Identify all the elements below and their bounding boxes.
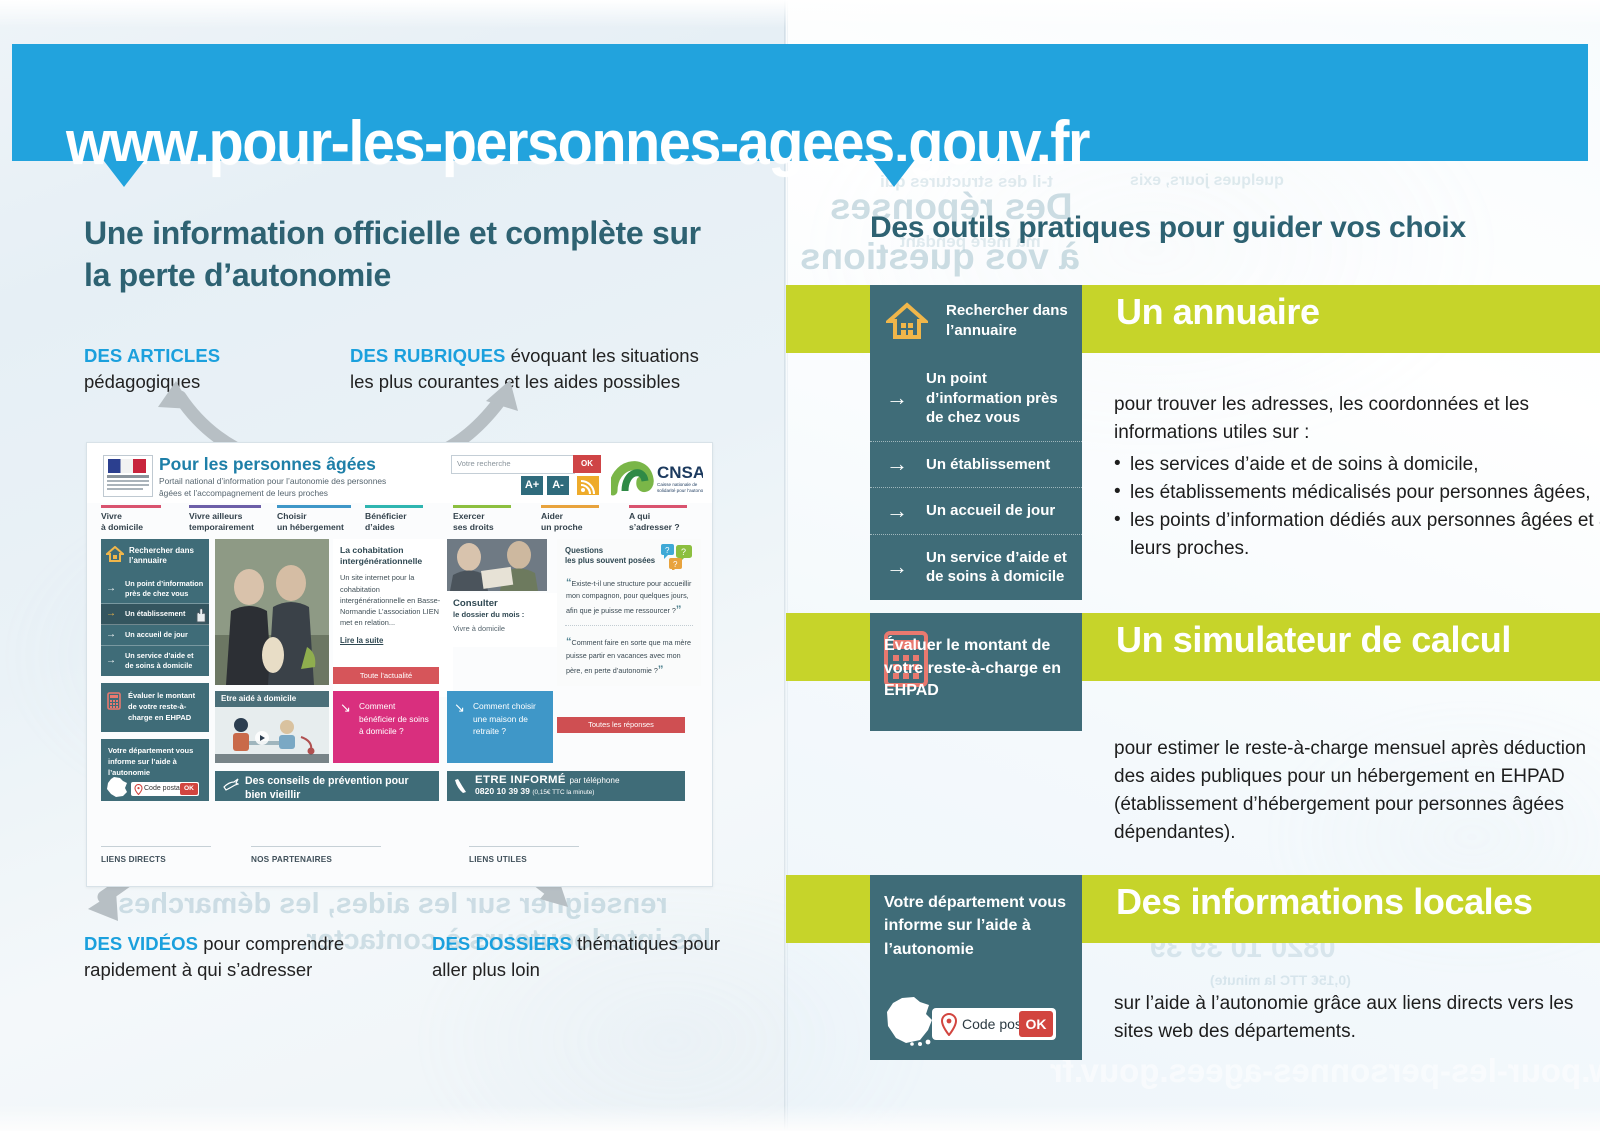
mockup-video-caption: Etre aidé à domicile: [215, 691, 329, 707]
mockup-postal-ok-button[interactable]: OK: [180, 783, 198, 795]
nav-item-vivre-domicile[interactable]: Vivre à domicile: [101, 511, 143, 534]
band-annuaire-title: Un annuaire: [1116, 291, 1320, 333]
mockup-article-readmore-link[interactable]: Lire la suite: [340, 636, 446, 645]
france-map-icon: [884, 996, 936, 1046]
band-simulateur-title: Un simulateur de calcul: [1116, 619, 1511, 661]
callout-rubriques: DES RUBRIQUES évoquant les situations le…: [350, 343, 720, 396]
mockup-informed-title: ETRE INFORMÉ: [475, 774, 566, 786]
mockup-tile-maison-retraite[interactable]: ↘ Comment choisir une maison de retraite…: [447, 691, 553, 763]
mockup-annuaire-header: Rechercher dans l’annuaire: [101, 539, 209, 574]
annuaire-bullet-1: les établissements médicalisés pour pers…: [1114, 479, 1600, 507]
nav-item-choisir-hebergement[interactable]: Choisir un hébergement: [277, 511, 344, 534]
informations-locales-description: sur l’aide à l’autonomie grâce aux liens…: [1114, 990, 1600, 1046]
arrow-right-icon: →: [886, 387, 908, 409]
map-pin-icon: [134, 784, 143, 795]
nav-1-l1: Vivre ailleurs: [189, 511, 242, 521]
arrow-right-icon: →: [106, 609, 116, 619]
pointing-hand-icon: [223, 778, 239, 792]
mockup-sidebar-item-2-label: Un accueil de jour: [125, 630, 188, 639]
nav-2-l2: un hébergement: [277, 522, 344, 532]
widget-annuaire-header-label: Rechercher dans l’annuaire: [946, 302, 1068, 339]
mockup-header: Pour les personnes âgées Portail nationa…: [87, 443, 712, 503]
callout-dossiers-term: DES DOSSIERS: [432, 933, 572, 954]
play-icon: [255, 731, 269, 745]
arrow-right-icon: →: [886, 453, 908, 475]
mockup-body: Rechercher dans l’annuaire →Un point d’i…: [87, 539, 712, 839]
mockup-article-title: La cohabitation intergénérationnelle: [340, 545, 446, 567]
map-pin-icon: [940, 1013, 958, 1036]
widget-item-accueil-de-jour[interactable]: →Un accueil de jour: [870, 488, 1082, 535]
widget-annuaire-header[interactable]: Rechercher dans l’annuaire: [870, 285, 1082, 356]
mockup-postal-code-field[interactable]: Code postal OK: [131, 782, 199, 796]
mockup-sidebar-item-1-label: Un établissement: [125, 609, 185, 618]
mockup-informed-title-row: ETRE INFORMÉ par téléphone: [475, 774, 679, 786]
mockup-dept-card[interactable]: Votre département vous informe sur l’aid…: [101, 739, 209, 801]
rss-icon[interactable]: [577, 476, 599, 495]
nav-3-l1: Bénéficier: [365, 511, 407, 521]
mockup-sidebar-item-etablissement[interactable]: →Un établissement: [101, 604, 209, 625]
quote-close-icon: ”: [658, 664, 664, 676]
mockup-annuaire-header-label: Rechercher dans l’annuaire: [129, 546, 194, 565]
marianne-logo: [103, 455, 153, 497]
nav-0-l1: Vivre: [101, 511, 122, 521]
left-heading: Une information officielle et complète s…: [84, 213, 724, 296]
website-screenshot-mockup: Pour les personnes âgées Portail nationa…: [86, 442, 713, 887]
nav-0-l2: à domicile: [101, 522, 143, 532]
widget-informations-locales[interactable]: Votre département vous informe sur l’aid…: [870, 875, 1082, 1060]
simulateur-description: pour estimer le reste-à-charge mensuel a…: [1114, 735, 1600, 847]
nav-5-l1: Aider: [541, 511, 563, 521]
mockup-sidebar-item-0-label: Un point d’information près de chez vous: [125, 579, 203, 598]
arrow-down-right-icon: ↘: [454, 701, 465, 714]
mockup-search-placeholder: Votre recherche: [457, 459, 511, 468]
nav-item-aider-proche[interactable]: Aider un proche: [541, 511, 583, 534]
mockup-site-title: Pour les personnes âgées: [159, 454, 376, 475]
annuaire-bullet-0: les services d’aide et de soins à domici…: [1114, 451, 1600, 479]
mockup-faq-block: ? ? ? Questions les plus souvent posées …: [557, 539, 701, 686]
arrow-right-icon: →: [106, 584, 116, 594]
header-banner: www.pour-les-personnes-agees.gouv.fr: [12, 44, 1588, 161]
mockup-faq-question-1-text: Existe-t-il une structure pour accueilli…: [566, 579, 691, 615]
house-icon: [106, 546, 124, 562]
house-icon: [886, 302, 928, 340]
callout-articles-rest: pédagogiques: [84, 371, 200, 392]
mockup-dossier-subtitle: le dossier du mois :: [453, 610, 553, 619]
footer-liens-utiles[interactable]: LIENS UTILES: [469, 855, 527, 864]
mockup-tile-0-label: Comment bénéficier de soins à domicile ?: [359, 701, 429, 736]
mockup-sidebar-item-3-label: Un service d’aide et de soins à domicile: [125, 651, 194, 670]
widget-item-3-label: Un service d’aide et de soins à domicile: [926, 549, 1067, 586]
phone-icon: [455, 778, 469, 794]
mockup-video-player[interactable]: Etre aidé à domicile: [215, 691, 329, 763]
postal-code-ok-button[interactable]: OK: [1019, 1011, 1053, 1037]
arrow-right-icon: →: [106, 656, 116, 666]
callout-dossiers: DES DOSSIERS thématiques pour aller plus…: [432, 931, 732, 984]
callout-articles-term: DES ARTICLES: [84, 345, 220, 366]
left-panel: Une information officielle et complète s…: [0, 175, 786, 1131]
mockup-simulator-card[interactable]: Évaluer le montant de votre reste-à-char…: [101, 683, 209, 733]
scan-top-edge: [0, 0, 1600, 28]
widget-item-point-information[interactable]: →Un point d’information près de chez vou…: [870, 356, 1082, 442]
nav-4-l1: Exercer: [453, 511, 485, 521]
mockup-phone-number: 0820 10 39 39: [475, 786, 530, 796]
mockup-search-ok-button[interactable]: OK: [573, 455, 601, 473]
svg-text:?: ?: [681, 547, 686, 557]
postal-code-field[interactable]: Code postal OK: [932, 1008, 1056, 1040]
svg-text:Caisse nationale de: Caisse nationale de: [657, 482, 698, 487]
arrow-right-icon: →: [106, 630, 116, 640]
nav-item-exercer-droits[interactable]: Exercer ses droits: [453, 511, 494, 534]
nav-2-l1: Choisir: [277, 511, 307, 521]
france-map-icon: [105, 776, 129, 798]
calculator-icon: [107, 692, 121, 710]
widget-item-2-label: Un accueil de jour: [926, 502, 1055, 519]
mockup-phone-row: 0820 10 39 39 (0,15€ TTC la minute): [475, 786, 679, 796]
annuaire-bullet-2: les points d’information dédiés aux pers…: [1114, 507, 1600, 563]
callout-articles: DES ARTICLES pédagogiques: [84, 343, 334, 396]
mockup-postal-placeholder: Code postal: [144, 785, 181, 792]
mockup-sidebar: Rechercher dans l’annuaire →Un point d’i…: [101, 539, 209, 808]
nav-5-l2: un proche: [541, 522, 583, 532]
mockup-tile-1-label: Comment choisir une maison de retraite ?: [473, 701, 536, 736]
mockup-search-input[interactable]: Votre recherche: [451, 455, 575, 474]
mockup-hero-photo: [215, 539, 329, 685]
nav-6-l1: A qui: [629, 511, 650, 521]
nav-4-l2: ses droits: [453, 522, 494, 532]
nav-item-beneficier-aides[interactable]: Bénéficier d’aides: [365, 511, 407, 534]
annuaire-description: pour trouver les adresses, les coordonné…: [1114, 391, 1600, 563]
nav-6-l2: s’adresser ?: [629, 522, 680, 532]
cnsa-logo: CNSA Caisse nationale de solidarité pour…: [611, 451, 703, 497]
nav-item-a-qui-sadresser[interactable]: A qui s’adresser ?: [629, 511, 680, 534]
mockup-prevention-label: Des conseils de prévention pour bien vie…: [245, 775, 409, 801]
mockup-all-news-button[interactable]: Toute l’actualité: [333, 667, 439, 684]
mockup-sidebar-item-accueil-jour[interactable]: →Un accueil de jour: [101, 625, 209, 646]
mockup-article-body: Un site internet pour la cohabitation in…: [340, 572, 446, 628]
mockup-faq-question-1[interactable]: “Existe-t-il une structure pour accueill…: [565, 575, 693, 619]
footer-nos-partenaires[interactable]: NOS PARTENAIRES: [251, 855, 332, 864]
mockup-video-controls[interactable]: [215, 754, 329, 763]
mockup-nav: Vivre à domicile Vivre ailleurs temporai…: [101, 505, 699, 531]
scan-bottom-edge: [0, 1105, 1600, 1131]
svg-text:?: ?: [665, 546, 670, 555]
mockup-informed-bar[interactable]: ETRE INFORMÉ par téléphone 0820 10 39 39…: [447, 771, 685, 801]
widget-simulateur-label: Évaluer le montant de votre reste-à-char…: [870, 613, 1082, 725]
mockup-text-smaller-button[interactable]: A-: [547, 476, 569, 495]
widget-item-etablissement[interactable]: →Un établissement: [870, 442, 1082, 489]
widget-dept-label: Votre département vous informe sur l’aid…: [870, 875, 1082, 973]
widget-item-0-label: Un point d’information près de chez vous: [926, 370, 1058, 426]
mockup-dossier-title: Consulter: [453, 598, 553, 609]
callout-videos-term: DES VIDÉOS: [84, 933, 198, 954]
right-panel: Des outils pratiques pour guider vos cho…: [786, 175, 1600, 1131]
band-informations-locales-title: Des informations locales: [1116, 881, 1533, 923]
nav-item-vivre-ailleurs[interactable]: Vivre ailleurs temporairement: [189, 511, 254, 534]
svg-text:CNSA: CNSA: [657, 463, 703, 482]
svg-text:solidarité pour l’autonomie: solidarité pour l’autonomie: [657, 488, 703, 493]
mockup-all-answers-button[interactable]: Toutes les réponses: [557, 717, 685, 733]
svg-text:?: ?: [673, 560, 678, 569]
mockup-sidebar-item-service-aide[interactable]: →Un service d’aide et de soins à domicil…: [101, 646, 209, 676]
widget-item-1-label: Un établissement: [926, 456, 1050, 473]
widget-item-service-aide-soins[interactable]: →Un service d’aide et de soins à domicil…: [870, 535, 1082, 600]
mockup-text-bigger-button[interactable]: A+: [521, 476, 543, 495]
mockup-phone-note: (0,15€ TTC la minute): [532, 789, 594, 796]
quote-close-icon: ”: [676, 604, 682, 616]
cursor-hand-icon: [193, 607, 207, 623]
mockup-dossier-item[interactable]: Vivre à domicile: [453, 624, 553, 633]
mockup-faq-question-2-text: Comment faire en sorte que ma mère puiss…: [566, 638, 691, 674]
footer-liens-directs[interactable]: LIENS DIRECTS: [101, 855, 166, 864]
mockup-annuaire-card: Rechercher dans l’annuaire →Un point d’i…: [101, 539, 209, 676]
speech-bubbles-icon: ? ? ?: [649, 544, 695, 570]
annuaire-bullet-list: les services d’aide et de soins à domici…: [1114, 451, 1600, 563]
right-heading: Des outils pratiques pour guider vos cho…: [870, 211, 1600, 245]
mockup-dossier-photo: [447, 539, 547, 591]
widget-annuaire: Rechercher dans l’annuaire →Un point d’i…: [870, 285, 1082, 600]
faq-divider: [565, 625, 693, 626]
widget-simulateur[interactable]: Évaluer le montant de votre reste-à-char…: [870, 613, 1082, 731]
nav-1-l2: temporairement: [189, 522, 254, 532]
arrow-right-icon: →: [886, 556, 908, 578]
mockup-site-subtitle: Portail national d’information pour l’au…: [159, 476, 409, 500]
mockup-sidebar-item-point-info[interactable]: →Un point d’information près de chez vou…: [101, 574, 209, 605]
annuaire-intro: pour trouver les adresses, les coordonné…: [1114, 391, 1600, 447]
mockup-dossier-block: Consulter le dossier du mois : Vivre à d…: [447, 593, 559, 647]
nav-3-l2: d’aides: [365, 522, 395, 532]
arrow-down-right-icon: ↘: [340, 701, 351, 714]
mockup-faq-question-2[interactable]: “Comment faire en sorte que ma mère puis…: [565, 634, 693, 678]
brochure-scan: Des réponses à vos questions t-il des st…: [0, 0, 1600, 1131]
callout-videos: DES VIDÉOS pour comprendre rapidement à …: [84, 931, 384, 984]
arrow-right-icon: →: [886, 500, 908, 522]
mockup-prevention-bar[interactable]: Des conseils de prévention pour bien vie…: [215, 771, 439, 801]
callout-rubriques-term: DES RUBRIQUES: [350, 345, 506, 366]
mockup-tile-soins-domicile[interactable]: ↘ Comment bénéficier de soins à domicile…: [333, 691, 439, 763]
mockup-informed-sub: par téléphone: [569, 776, 619, 785]
